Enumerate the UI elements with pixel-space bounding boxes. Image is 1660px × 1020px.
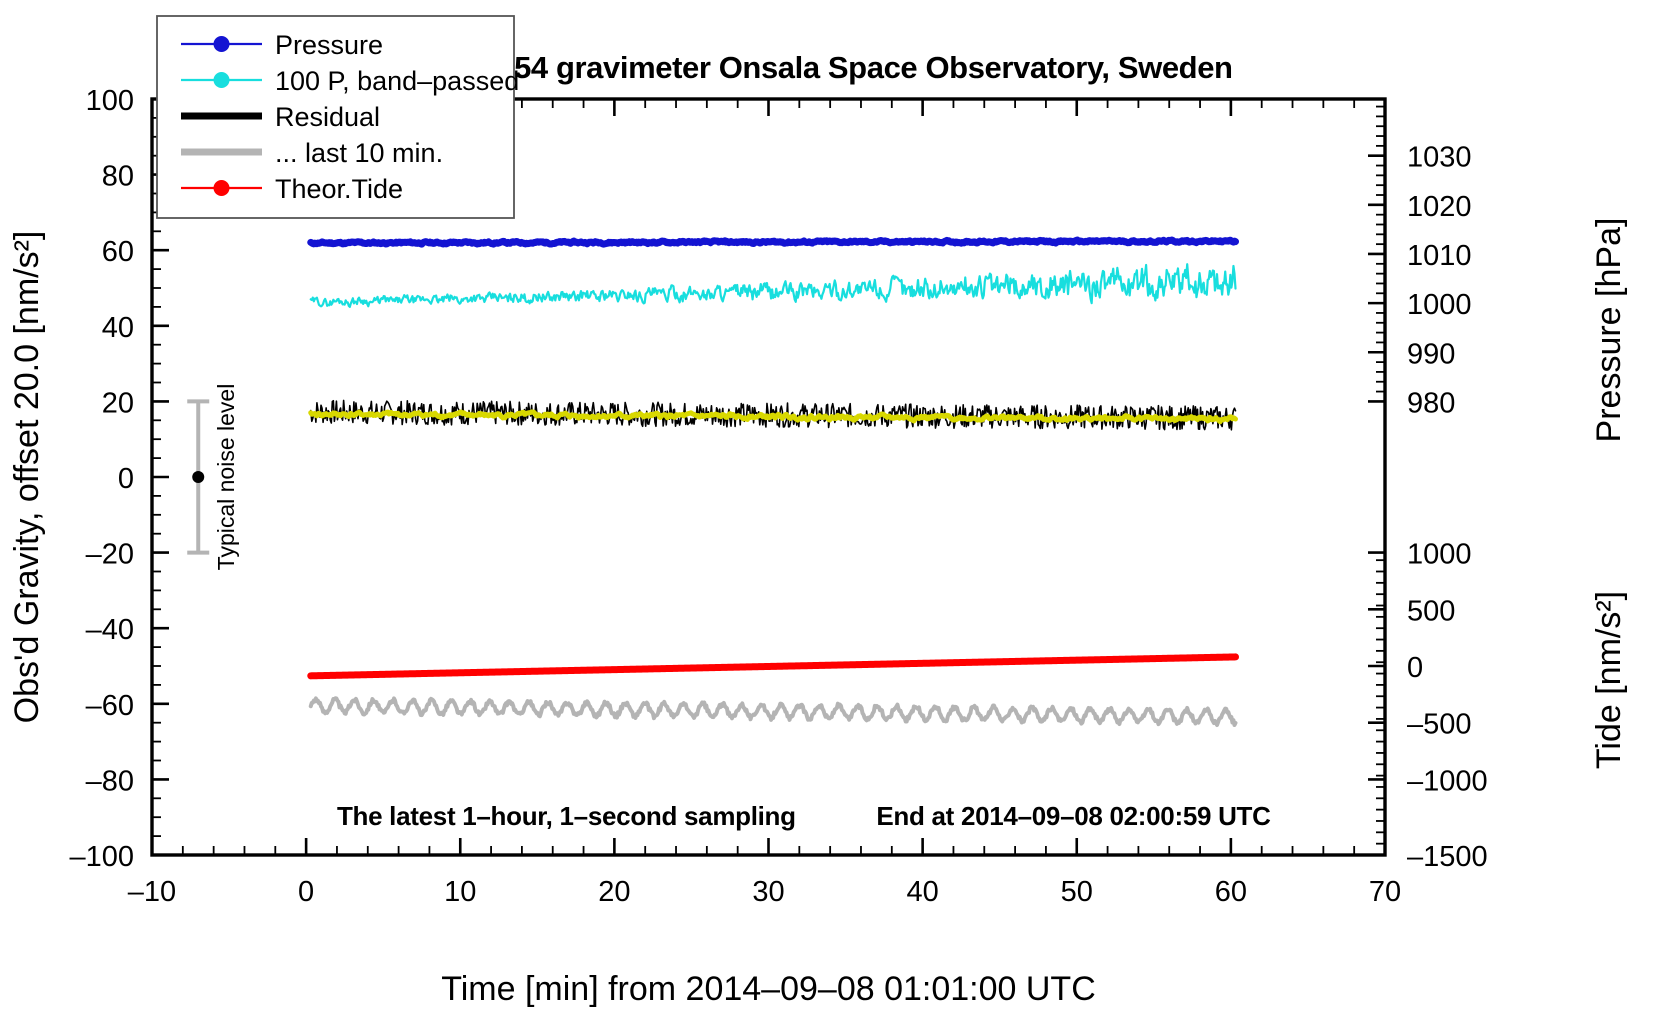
- pressure-tick-label-5: 980: [1407, 387, 1455, 419]
- legend-label-1[interactable]: 100 P, band–passed: [275, 66, 519, 96]
- legend-marker-4: [214, 180, 230, 196]
- tide-tick-label-0: 1000: [1407, 539, 1472, 571]
- tide-tick-label-3: –500: [1407, 709, 1472, 741]
- pressure-tick-label-1: 1020: [1407, 191, 1472, 223]
- y-axis-title-pressure: Pressure [hPa]: [1590, 218, 1628, 443]
- y-tick-label-7: –40: [86, 614, 134, 646]
- x-tick-label-2: 10: [444, 876, 476, 908]
- y-axis-title-left: Obs'd Gravity, offset 20.0 [nm/s²]: [8, 231, 46, 724]
- y-axis-title-tide: Tide [nm/s²]: [1590, 591, 1628, 769]
- x-tick-label-1: 0: [298, 876, 314, 908]
- x-tick-label-6: 50: [1061, 876, 1093, 908]
- legend-marker-1: [214, 72, 230, 88]
- y-axis-right: [1368, 107, 1385, 855]
- tide-tick-label-2: 0: [1407, 652, 1423, 684]
- y-tick-label-10: –100: [69, 841, 134, 873]
- noise-annotation-label: Typical noise level: [213, 384, 239, 571]
- y-tick-label-8: –60: [86, 690, 134, 722]
- series-trace-0: [311, 240, 1236, 244]
- gravimeter-plot-page: –10010203040506070Time [min] from 2014–0…: [0, 0, 1660, 1020]
- x-tick-label-5: 40: [906, 876, 938, 908]
- legend-label-2[interactable]: Residual: [275, 102, 380, 132]
- legend: Pressure100 P, band–passedResidual... la…: [157, 16, 519, 218]
- x-tick-label-3: 20: [598, 876, 630, 908]
- tide-tick-label-5: –1500: [1407, 841, 1488, 873]
- y-tick-label-9: –80: [86, 765, 134, 797]
- noise-annotation: [187, 401, 209, 552]
- y-tick-label-1: 80: [102, 161, 134, 193]
- legend-marker-0: [214, 36, 230, 52]
- series-trace-4: [311, 698, 1236, 725]
- x-axis-title: Time [min] from 2014–09–08 01:01:00 UTC: [441, 970, 1096, 1008]
- legend-label-3[interactable]: ... last 10 min.: [275, 138, 443, 168]
- tide-tick-label-1: 500: [1407, 595, 1455, 627]
- pressure-tick-label-4: 990: [1407, 338, 1455, 370]
- series-trace-1: [311, 264, 1236, 307]
- x-tick-label-4: 30: [752, 876, 784, 908]
- end-time-note: End at 2014–09–08 02:00:59 UTC: [876, 801, 1271, 831]
- y-tick-label-5: 0: [118, 463, 134, 495]
- y-tick-label-4: 20: [102, 387, 134, 419]
- x-tick-label-8: 70: [1369, 876, 1401, 908]
- legend-label-4[interactable]: Theor.Tide: [275, 174, 403, 204]
- pressure-tick-label-2: 1010: [1407, 240, 1472, 272]
- tide-tick-label-4: –1000: [1407, 765, 1488, 797]
- gravimeter-chart: –10010203040506070Time [min] from 2014–0…: [0, 0, 1660, 1020]
- y-tick-label-2: 60: [102, 236, 134, 268]
- series-trace-5: [311, 657, 1236, 676]
- pressure-tick-label-0: 1030: [1407, 142, 1472, 174]
- legend-label-0[interactable]: Pressure: [275, 30, 383, 60]
- pressure-tick-label-3: 1000: [1407, 289, 1472, 321]
- x-tick-label-7: 60: [1215, 876, 1247, 908]
- y-tick-label-3: 40: [102, 312, 134, 344]
- chart-title: SCG_054 gravimeter Onsala Space Observat…: [414, 50, 1232, 85]
- noise-center-dot: [192, 471, 204, 483]
- y-tick-label-0: 100: [86, 85, 134, 117]
- sampling-note: The latest 1–hour, 1–second sampling: [337, 801, 796, 831]
- y-tick-label-6: –20: [86, 539, 134, 571]
- x-tick-label-0: –10: [128, 876, 176, 908]
